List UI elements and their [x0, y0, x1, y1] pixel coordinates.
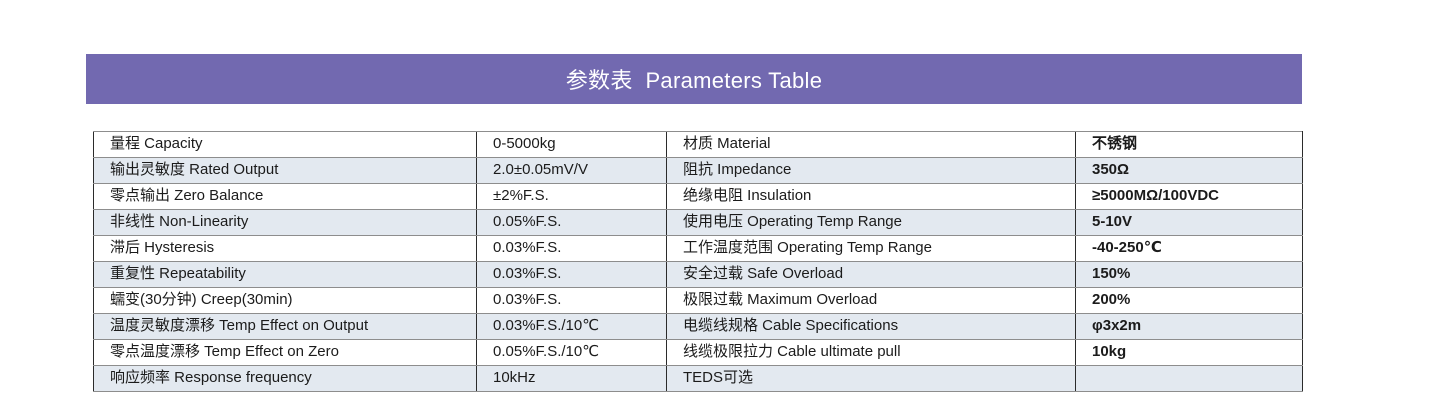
parameters-table: 量程 Capacity 0-5000kg 材质 Material 不锈钢 输出灵… — [93, 131, 1303, 392]
table-row: 零点温度漂移 Temp Effect on Zero 0.05%F.S./10℃… — [94, 340, 1303, 366]
row-left-value: ±2%F.S. — [477, 184, 667, 210]
table-row: 蠕变(30分钟) Creep(30min) 0.03%F.S. 极限过载 Max… — [94, 288, 1303, 314]
row-left-label: 量程 Capacity — [94, 132, 477, 158]
parameters-table-body: 量程 Capacity 0-5000kg 材质 Material 不锈钢 输出灵… — [94, 132, 1303, 392]
row-left-value: 0.03%F.S. — [477, 236, 667, 262]
row-left-label: 重复性 Repeatability — [94, 262, 477, 288]
row-right-value: 200% — [1076, 288, 1303, 314]
row-right-label: 安全过载 Safe Overload — [667, 262, 1076, 288]
row-right-label: 材质 Material — [667, 132, 1076, 158]
row-right-label: 使用电压 Operating Temp Range — [667, 210, 1076, 236]
row-left-label: 输出灵敏度 Rated Output — [94, 158, 477, 184]
row-right-value: φ3x2m — [1076, 314, 1303, 340]
row-right-label: 电缆线规格 Cable Specifications — [667, 314, 1076, 340]
row-right-label: 极限过载 Maximum Overload — [667, 288, 1076, 314]
table-row: 重复性 Repeatability 0.03%F.S. 安全过载 Safe Ov… — [94, 262, 1303, 288]
parameters-banner: 参数表 Parameters Table — [86, 54, 1302, 104]
table-row: 非线性 Non-Linearity 0.05%F.S. 使用电压 Operati… — [94, 210, 1303, 236]
row-left-value: 10kHz — [477, 366, 667, 392]
row-right-value — [1076, 366, 1303, 392]
table-row: 量程 Capacity 0-5000kg 材质 Material 不锈钢 — [94, 132, 1303, 158]
row-right-label: 绝缘电阻 Insulation — [667, 184, 1076, 210]
row-right-label: 线缆极限拉力 Cable ultimate pull — [667, 340, 1076, 366]
row-left-value: 0.03%F.S./10℃ — [477, 314, 667, 340]
row-left-label: 蠕变(30分钟) Creep(30min) — [94, 288, 477, 314]
row-left-label: 滞后 Hysteresis — [94, 236, 477, 262]
table-row: 响应频率 Response frequency 10kHz TEDS可选 — [94, 366, 1303, 392]
row-left-value: 0.03%F.S. — [477, 262, 667, 288]
row-right-value: 5-10V — [1076, 210, 1303, 236]
row-left-label: 非线性 Non-Linearity — [94, 210, 477, 236]
table-row: 温度灵敏度漂移 Temp Effect on Output 0.03%F.S./… — [94, 314, 1303, 340]
row-right-value: ≥5000MΩ/100VDC — [1076, 184, 1303, 210]
row-right-label: 工作温度范围 Operating Temp Range — [667, 236, 1076, 262]
row-left-label: 零点温度漂移 Temp Effect on Zero — [94, 340, 477, 366]
table-row: 输出灵敏度 Rated Output 2.0±0.05mV/V 阻抗 Imped… — [94, 158, 1303, 184]
row-left-label: 零点输出 Zero Balance — [94, 184, 477, 210]
row-right-label: 阻抗 Impedance — [667, 158, 1076, 184]
row-right-value: 350Ω — [1076, 158, 1303, 184]
row-left-value: 0.03%F.S. — [477, 288, 667, 314]
table-row: 零点输出 Zero Balance ±2%F.S. 绝缘电阻 Insulatio… — [94, 184, 1303, 210]
row-left-value: 0.05%F.S. — [477, 210, 667, 236]
row-right-value: 不锈钢 — [1076, 132, 1303, 158]
row-right-value: -40-250℃ — [1076, 236, 1303, 262]
row-left-value: 0-5000kg — [477, 132, 667, 158]
parameters-table-page: 参数表 Parameters Table 量程 Capacity 0-5000k… — [0, 0, 1437, 408]
row-right-value: 150% — [1076, 262, 1303, 288]
row-left-value: 0.05%F.S./10℃ — [477, 340, 667, 366]
row-right-value: 10kg — [1076, 340, 1303, 366]
row-left-label: 温度灵敏度漂移 Temp Effect on Output — [94, 314, 477, 340]
banner-title: 参数表 Parameters Table — [566, 63, 823, 95]
row-right-label: TEDS可选 — [667, 366, 1076, 392]
table-row: 滞后 Hysteresis 0.03%F.S. 工作温度范围 Operating… — [94, 236, 1303, 262]
row-left-value: 2.0±0.05mV/V — [477, 158, 667, 184]
row-left-label: 响应频率 Response frequency — [94, 366, 477, 392]
parameters-table-container: 量程 Capacity 0-5000kg 材质 Material 不锈钢 输出灵… — [93, 131, 1302, 392]
